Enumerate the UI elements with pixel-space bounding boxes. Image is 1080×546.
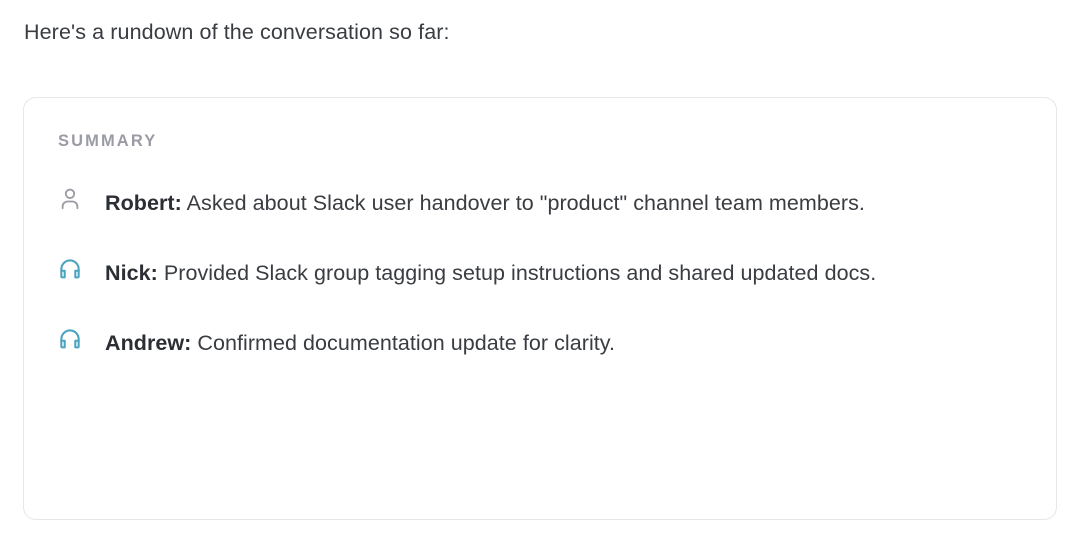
person-icon <box>57 184 85 214</box>
headphones-icon <box>57 254 85 284</box>
summary-entry-list: Robert: Asked about Slack user handover … <box>24 182 1056 364</box>
summary-card-title: SUMMARY <box>58 131 157 151</box>
summary-page: Here's a rundown of the conversation so … <box>0 0 1080 546</box>
entry-speaker: Andrew: <box>105 331 191 355</box>
list-item: Andrew: Confirmed documentation update f… <box>24 322 1056 364</box>
entry-message: Provided Slack group tagging setup instr… <box>164 261 876 285</box>
entry-text: Robert: Asked about Slack user handover … <box>85 182 1026 224</box>
entry-message: Confirmed documentation update for clari… <box>197 331 615 355</box>
list-item: Robert: Asked about Slack user handover … <box>24 182 1056 224</box>
entry-speaker: Nick: <box>105 261 158 285</box>
entry-text: Andrew: Confirmed documentation update f… <box>85 322 1026 364</box>
summary-card: SUMMARY Robert: Asked about Slack user h… <box>23 97 1057 520</box>
entry-text: Nick: Provided Slack group tagging setup… <box>85 252 1026 294</box>
list-item: Nick: Provided Slack group tagging setup… <box>24 252 1056 294</box>
entry-message: Asked about Slack user handover to "prod… <box>187 191 865 215</box>
headphones-icon <box>57 324 85 354</box>
intro-text: Here's a rundown of the conversation so … <box>24 17 450 47</box>
entry-speaker: Robert: <box>105 191 182 215</box>
